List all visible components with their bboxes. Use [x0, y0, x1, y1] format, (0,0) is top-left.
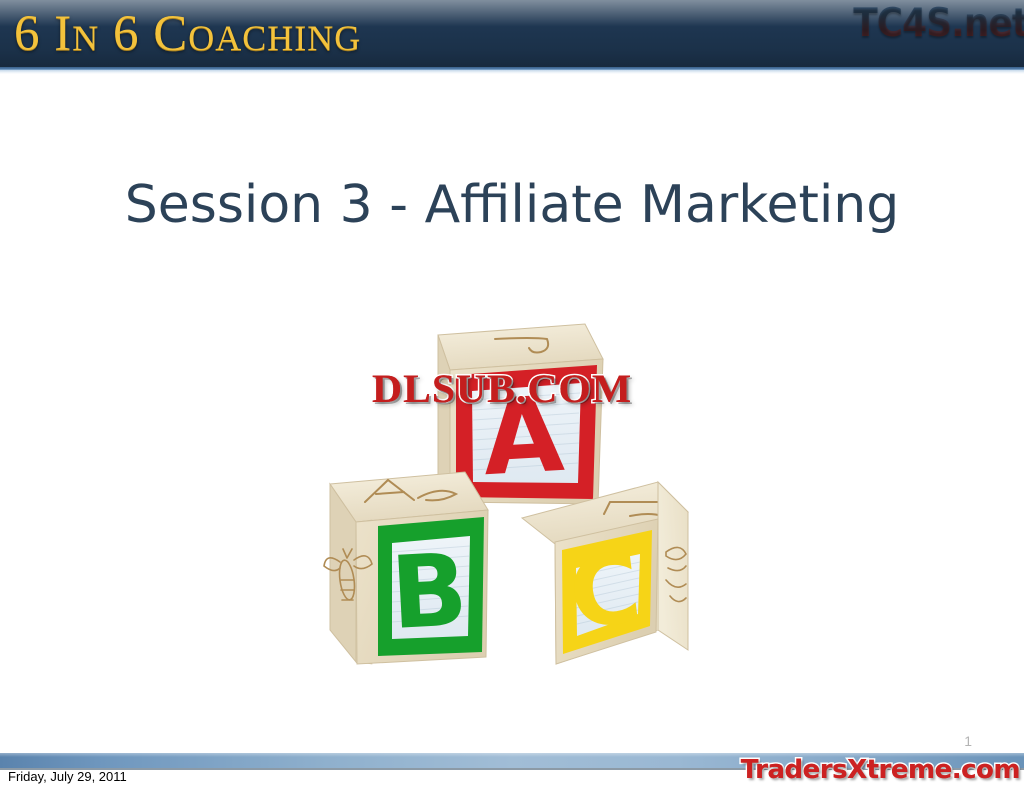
- brand-title: 6 In 6 Coaching: [14, 4, 361, 64]
- block-b: B: [324, 472, 488, 664]
- svg-text:B: B: [388, 531, 470, 652]
- header-banner: 6 In 6 Coaching TC4S.net: [0, 0, 1024, 70]
- svg-text:C: C: [563, 531, 647, 651]
- banner-underline-divider: [0, 70, 1024, 74]
- page-number: 1: [964, 733, 972, 749]
- site-logo: TC4S.net: [853, 0, 1024, 48]
- presentation-slide: 6 In 6 Coaching TC4S.net Session 3 - Aff…: [0, 0, 1024, 788]
- tradersxtreme-logo-outline: TradersXtreme.com: [741, 755, 1020, 785]
- slide-title: Session 3 - Affiliate Marketing: [0, 172, 1024, 238]
- footer-date: Friday, July 29, 2011: [8, 769, 127, 785]
- dlsub-watermark-outline: DLSUB.COM: [372, 367, 632, 411]
- block-c: C: [522, 482, 688, 664]
